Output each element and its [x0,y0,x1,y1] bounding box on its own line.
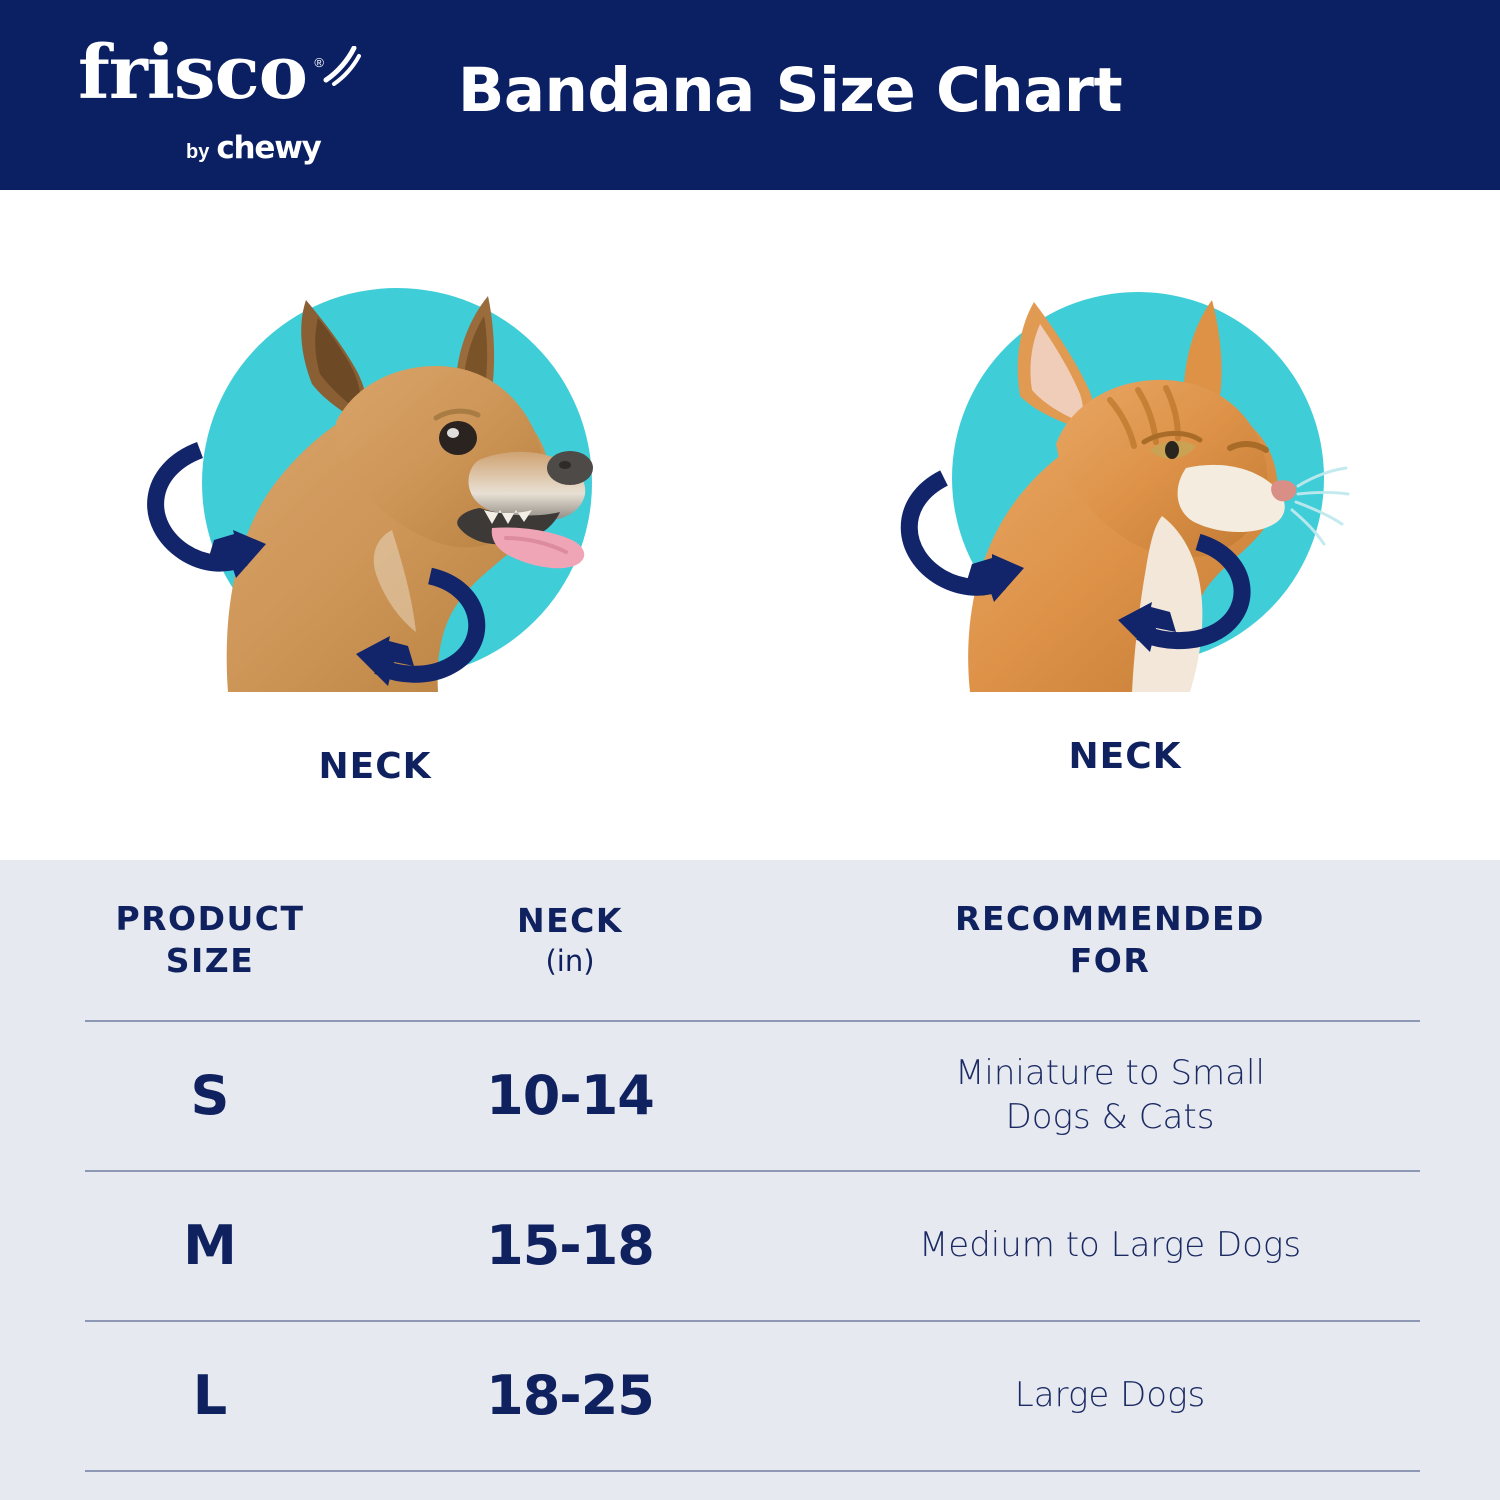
cell-recommended: Miniature to Small Dogs & Cats [720,1020,1500,1170]
table-row-rule [85,1320,1420,1322]
cat-neck-label: NECK [1068,736,1181,777]
table-row-rule [85,1020,1420,1022]
column-header-neck-line1: NECK [420,900,720,942]
page-title: Bandana Size Chart [0,55,1500,126]
size-table-head: PRODUCT SIZE NECK (in) RECOMMENDED FOR [0,860,1500,1020]
column-header-recommended-for: RECOMMENDED FOR [720,860,1500,1020]
table-header-row: PRODUCT SIZE NECK (in) RECOMMENDED FOR [0,860,1500,1020]
cell-neck-value: 10-14 [420,1064,720,1127]
column-header-neck-unit: (in) [420,942,720,980]
dog-neck-label: NECK [318,746,431,787]
illustration-row: NECK [0,190,1500,860]
cell-recommended: Large Dogs [720,1320,1500,1470]
cat-illustration-icon [900,272,1350,722]
cell-product-size: L [0,1320,420,1470]
cell-neck: 15-18 [420,1170,720,1320]
cell-product-size-value: M [0,1214,420,1277]
cell-neck-value: 15-18 [420,1214,720,1277]
dog-art [140,262,610,732]
table-row: M 15-18 Medium to Large Dogs [0,1170,1500,1320]
cell-recommended-line1: Miniature to Small [720,1051,1500,1095]
cell-recommended-line2: Dogs & Cats [720,1095,1500,1139]
cell-product-size: S [0,1020,420,1170]
table-row: L 18-25 Large Dogs [0,1320,1500,1470]
cell-product-size-value: S [0,1064,420,1127]
column-header-recommended-line2: FOR [720,940,1500,982]
table-row-rule [85,1170,1420,1172]
brand-byline-chewy: chewy [216,130,320,166]
size-table: PRODUCT SIZE NECK (in) RECOMMENDED FOR [0,860,1500,1470]
cell-recommended-line1: Medium to Large Dogs [720,1223,1500,1267]
size-table-body: S 10-14 Miniature to Small Dogs & Cats M [0,1020,1500,1470]
page-header: frisco ® by chewy Bandana Size Chart [0,0,1500,190]
column-header-product-size-line1: PRODUCT [0,898,420,940]
cell-recommended-line1: Large Dogs [720,1373,1500,1417]
cell-neck: 10-14 [420,1020,720,1170]
column-header-product-size: PRODUCT SIZE [0,860,420,1020]
dog-illustration-icon [140,262,610,732]
cat-measurement-figure: NECK [750,190,1500,860]
size-chart-page: frisco ® by chewy Bandana Size Chart [0,0,1500,1500]
cell-recommended: Medium to Large Dogs [720,1170,1500,1320]
brand-byline-by: by [186,141,209,164]
table-bottom-rule [85,1470,1420,1472]
column-header-product-size-line2: SIZE [0,940,420,982]
size-table-section: PRODUCT SIZE NECK (in) RECOMMENDED FOR [0,860,1500,1500]
cell-product-size: M [0,1170,420,1320]
cell-neck: 18-25 [420,1320,720,1470]
column-header-recommended-line1: RECOMMENDED [720,898,1500,940]
brand-byline: by chewy [186,130,321,166]
dog-measurement-figure: NECK [0,190,750,860]
table-row: S 10-14 Miniature to Small Dogs & Cats [0,1020,1500,1170]
cell-product-size-value: L [0,1364,420,1427]
cell-neck-value: 18-25 [420,1364,720,1427]
cat-art [900,272,1350,722]
column-header-neck: NECK (in) [420,860,720,1020]
